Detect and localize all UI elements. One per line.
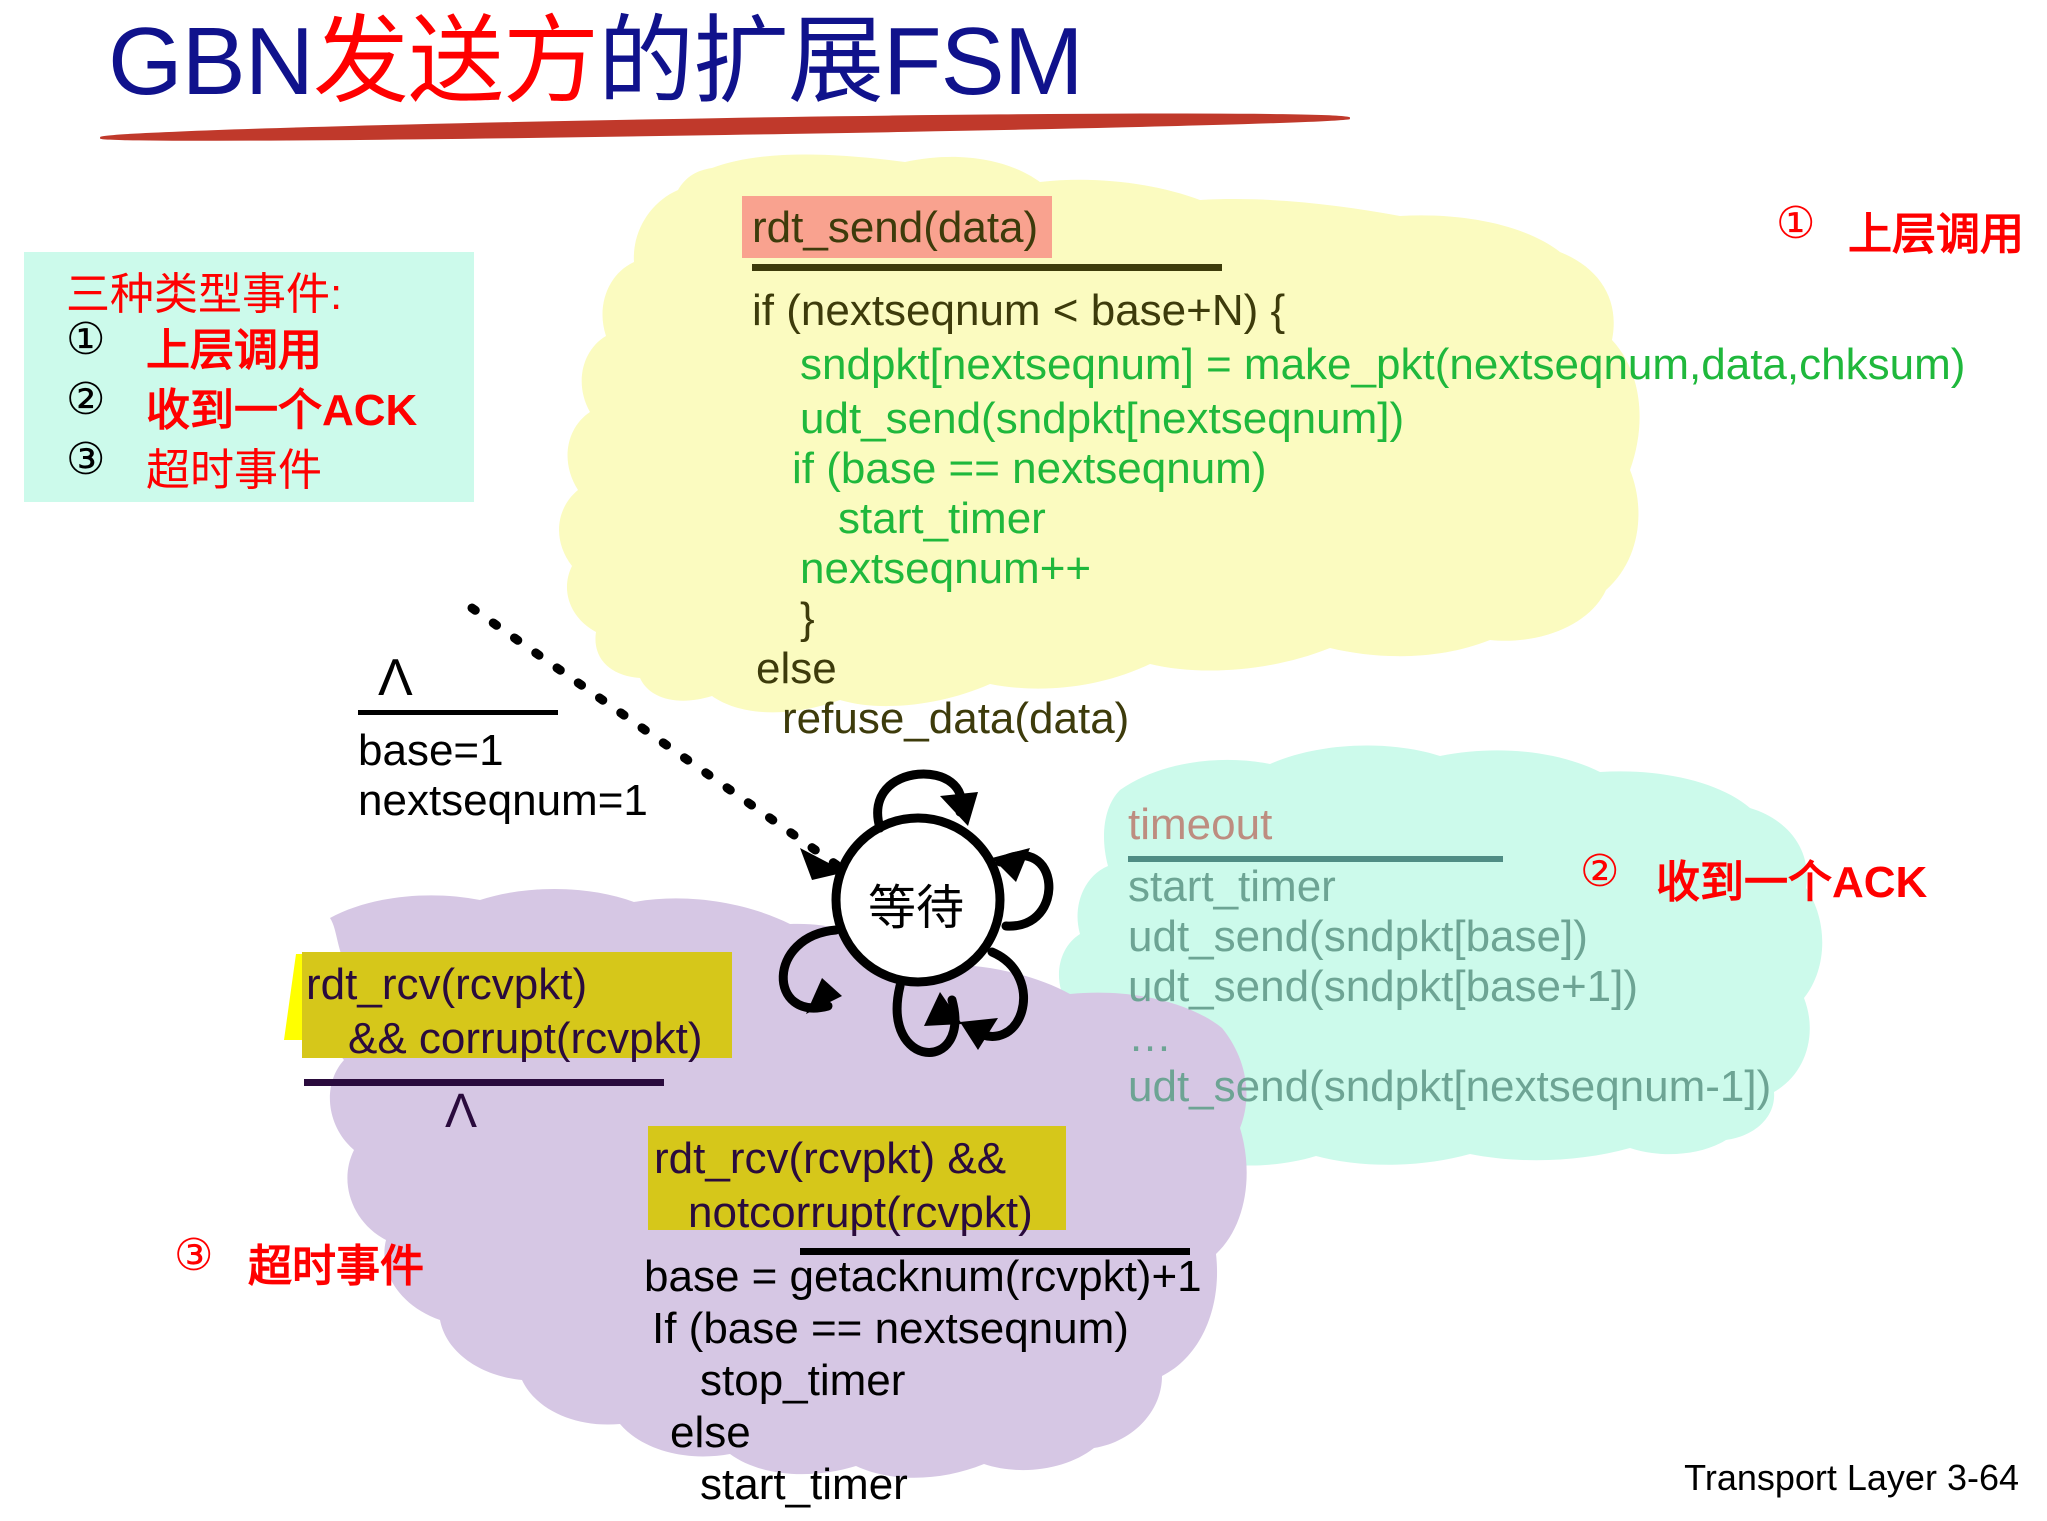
footer-slide-label: Transport Layer 3-64 <box>1684 1457 2019 1499</box>
ack-code-line-5: start_timer <box>700 1460 908 1510</box>
timeout-code-line-5: udt_send(sndpkt[nextseqnum-1]) <box>1128 1062 1771 1112</box>
timeout-code-line-3: udt_send(sndpkt[base+1]) <box>1128 962 1638 1012</box>
legend-heading: 三种类型事件: <box>66 258 342 322</box>
title-part-1: GBN <box>108 8 313 115</box>
upper-code-line-6: nextseqnum++ <box>800 544 1091 594</box>
ack-code-line-2: If (base == nextseqnum) <box>652 1304 1129 1354</box>
annotation-number-2: ② <box>1580 846 1619 897</box>
upper-code-line-1: if (nextseqnum < base+N) { <box>752 286 1285 336</box>
timeout-code-line-2: udt_send(sndpkt[base]) <box>1128 912 1588 962</box>
annotation-text-2: 收到一个ACK <box>1656 846 1927 910</box>
legend-number-2: ② <box>66 374 105 425</box>
corrupt-action-lambda: Λ <box>445 1084 477 1139</box>
legend-number-1: ① <box>66 314 105 365</box>
legend-label-1: 上层调用 <box>146 314 322 378</box>
ack-code-line-4: else <box>670 1408 751 1458</box>
event-types-legend: 三种类型事件: ① 上层调用 ② 收到一个ACK ③ 超时事件 <box>24 252 474 502</box>
timeout-code-line-1: start_timer <box>1128 862 1336 912</box>
corrupt-divider <box>304 1079 664 1086</box>
annotation-number-3: ③ <box>174 1230 213 1281</box>
upper-code-line-4: if (base == nextseqnum) <box>792 444 1266 494</box>
annotation-text-3: 超时事件 <box>248 1230 424 1294</box>
init-line-2: nextseqnum=1 <box>358 776 648 826</box>
ack-line-2: notcorrupt(rcvpkt) <box>688 1188 1033 1238</box>
legend-label-2: 收到一个ACK <box>146 374 417 438</box>
init-divider <box>358 710 558 715</box>
ack-code-line-3: stop_timer <box>700 1356 905 1406</box>
title-part-2: 发送方 <box>313 8 598 115</box>
corrupt-line-2: && corrupt(rcvpkt) <box>348 1014 703 1064</box>
timeout-code-line-4: … <box>1128 1012 1172 1062</box>
init-lambda-symbol: Λ <box>378 648 413 708</box>
upper-code-line-9: refuse_data(data) <box>782 694 1129 744</box>
ack-line-1: rdt_rcv(rcvpkt) && <box>654 1134 1006 1184</box>
rdt-send-event-label: rdt_send(data) <box>752 203 1038 253</box>
init-line-1: base=1 <box>358 726 504 776</box>
corrupt-line-1: rdt_rcv(rcvpkt) <box>306 960 587 1010</box>
timeout-event-label: timeout <box>1128 800 1272 850</box>
state-wait-label: 等待 <box>868 868 964 938</box>
title-part-3: 的扩展FSM <box>598 8 1083 115</box>
ack-code-line-1: base = getacknum(rcvpkt)+1 <box>644 1252 1202 1302</box>
rdt-send-divider <box>752 264 1222 271</box>
upper-code-line-2: sndpkt[nextseqnum] = make_pkt(nextseqnum… <box>800 340 1965 390</box>
page-title: GBN发送方的扩展FSM <box>108 12 1083 113</box>
annotation-number-1: ① <box>1776 198 1815 249</box>
upper-code-line-7: } <box>800 594 815 644</box>
upper-code-line-8: else <box>756 644 837 694</box>
annotation-text-1: 上层调用 <box>1848 198 2024 262</box>
legend-label-3: 超时事件 <box>146 434 322 498</box>
legend-number-3: ③ <box>66 434 105 485</box>
upper-code-line-5: start_timer <box>838 494 1046 544</box>
upper-code-line-3: udt_send(sndpkt[nextseqnum]) <box>800 394 1404 444</box>
